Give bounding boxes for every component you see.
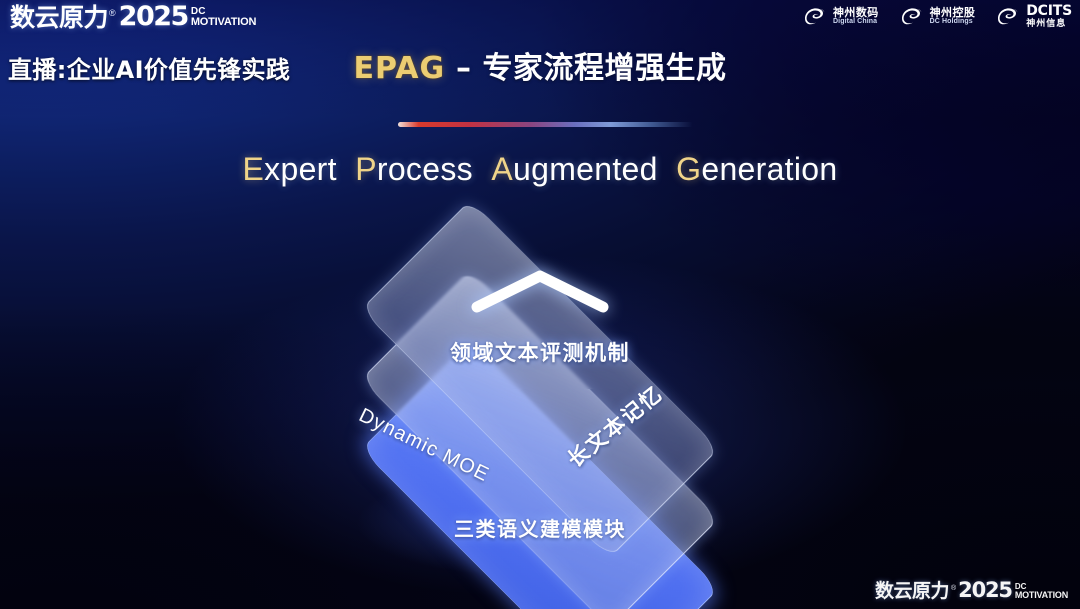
subtitle-cap-a: A [491,151,513,187]
layered-architecture-diagram: 领域文本评测机制 Dynamic MOE 长文本记忆 三类语义建模模块 [280,225,800,595]
partner-dc-holdings: 神州控股 DC Holdings [899,5,976,27]
partner-digital-china: 神州数码 Digital China [802,5,879,27]
subtitle-space-3 [667,151,676,187]
subtitle-cap-e: E [243,151,265,187]
watermark-dc-motivation: DC MOTIVATION [1015,583,1068,600]
dc-holdings-swirl-icon [899,5,925,27]
subtitle-rest-expert: xpert [264,151,337,187]
partner-digital-china-en: Digital China [833,18,879,25]
subtitle-space-2 [482,151,491,187]
watermark-motivation: MOTIVATION [1015,591,1068,600]
subtitle-space-1 [346,151,355,187]
watermark-chinese: 数云原力 [875,582,949,601]
subtitle-word-expert: Expert [243,151,337,187]
page-subtitle: Expert Process Augmented Generation [0,152,1080,187]
slide-canvas: 数云原力 ® 2025 DC MOTIVATION 直播:企业AI价值先锋实践 … [0,0,1080,609]
title-divider [398,122,693,127]
page-title-acronym: EPAG [354,51,446,86]
partner-dcits-cn: 神州信息 [1026,19,1072,28]
subtitle-rest-generation: eneration [701,151,837,187]
watermark-year: 2025 [958,580,1012,601]
footer-watermark-logo: 数云原力 ® 2025 DC MOTIVATION [875,580,1068,601]
partner-dcits-name: DCITS [1026,4,1072,19]
subtitle-cap-p: P [355,151,377,187]
dcits-swirl-icon [995,5,1021,27]
brand-logo: 数云原力 ® 2025 DC MOTIVATION [10,3,256,30]
page-title-chinese: 专家流程增强生成 [482,51,726,86]
brand-logo-registered: ® [109,9,116,18]
subtitle-cap-g: G [676,151,701,187]
subtitle-rest-process: rocess [377,151,473,187]
partner-logo-group: 神州数码 Digital China 神州控股 DC Holdings [802,4,1072,28]
partner-dc-holdings-en: DC Holdings [930,18,976,25]
partner-dcits: DCITS 神州信息 [995,4,1072,28]
brand-logo-year: 2025 [119,3,188,30]
brand-logo-dc-motivation: DC MOTIVATION [191,7,256,28]
partner-dc-holdings-cn: 神州控股 [930,7,976,19]
brand-logo-motivation: MOTIVATION [191,17,256,28]
brand-logo-chinese: 数云原力 [10,5,108,30]
page-title: EPAG – 专家流程增强生成 [0,54,1080,84]
watermark-registered: ® [951,585,956,592]
partner-digital-china-cn: 神州数码 [833,7,879,19]
subtitle-word-augmented: Augmented [491,151,657,187]
subtitle-word-generation: Generation [676,151,837,187]
page-title-separator: – [445,51,482,86]
subtitle-word-process: Process [355,151,473,187]
digital-china-swirl-icon [802,5,828,27]
subtitle-rest-augmented: ugmented [513,151,658,187]
